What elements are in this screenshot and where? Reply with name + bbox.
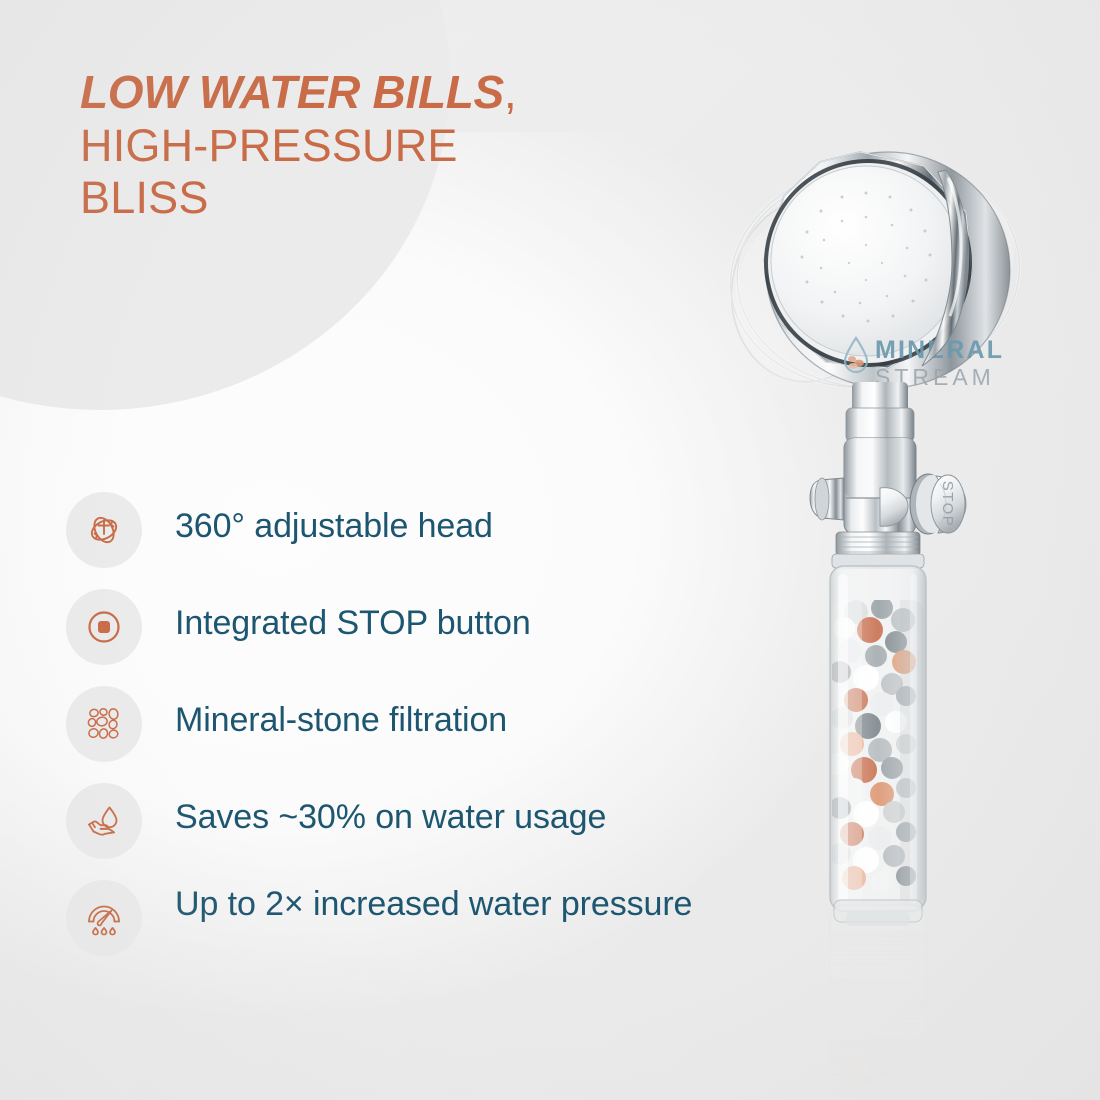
feature-item: 360° adjustable head (66, 490, 726, 576)
feature-item: Mineral-stone filtration (66, 684, 726, 770)
feature-item: Saves ~30% on water usage (66, 781, 726, 867)
rotate-360-icon (83, 509, 125, 551)
feature-item: Up to 2× increased water pressure (66, 878, 726, 964)
feature-icon-badge (66, 589, 142, 665)
stop-button-icon (84, 607, 124, 647)
feature-item: Integrated STOP button (66, 587, 726, 673)
headline-line-3: BLISS (80, 172, 550, 225)
headline-line-1-text: LOW WATER BILLS (80, 66, 504, 118)
feature-label: Saves ~30% on water usage (175, 781, 606, 838)
product-image: MINERAL STREAM STOP (660, 100, 1080, 1100)
feature-label: Mineral-stone filtration (175, 684, 507, 741)
feature-label: Integrated STOP button (175, 587, 531, 644)
headline-comma: , (504, 66, 516, 118)
stop-knob-label: STOP (939, 481, 956, 528)
pressure-gauge-icon (83, 897, 125, 939)
feature-icon-badge (66, 880, 142, 956)
feature-list: 360° adjustable head Integrated STOP but… (66, 490, 726, 975)
hand-water-drop-icon (83, 800, 125, 842)
feature-icon-badge (66, 492, 142, 568)
feature-icon-badge (66, 783, 142, 859)
mineral-stones-icon (84, 704, 124, 744)
headline-line-2: HIGH-PRESSURE (80, 120, 550, 173)
headline: LOW WATER BILLS, HIGH-PRESSURE BLISS (80, 66, 550, 225)
product-reflection (829, 905, 926, 1100)
feature-label: 360° adjustable head (175, 490, 493, 547)
feature-icon-badge (66, 686, 142, 762)
stop-knob: STOP (910, 474, 966, 534)
product-feature-graphic: LOW WATER BILLS, HIGH-PRESSURE BLISS 3 (0, 0, 1100, 1100)
headline-line-1: LOW WATER BILLS, (80, 66, 550, 120)
feature-label: Up to 2× increased water pressure (175, 878, 692, 925)
